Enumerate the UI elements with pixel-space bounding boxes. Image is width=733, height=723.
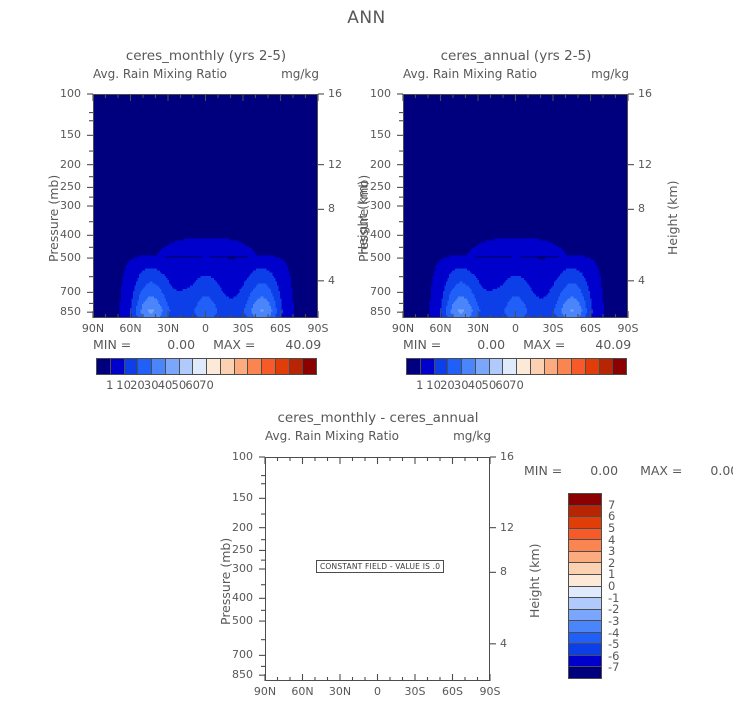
colorbar-cell [234,359,248,374]
colorbar-tick-label: 1 [106,378,113,392]
x-tick-label: 30S [405,685,426,698]
colorbar-cell [475,359,489,374]
colorbar-cell [569,539,601,551]
constant-field-annotation: CONSTANT FIELD - VALUE IS .0 [316,560,444,573]
colorbar-tick-label: 60 [185,378,200,392]
contour-field [404,95,628,318]
colorbar-tick-label: -7 [608,660,619,674]
y-tick-label: 850 [370,305,391,318]
x-tick-label: 60S [580,322,601,335]
colorbar-cell [569,505,601,517]
x-tick-label: 60N [291,685,313,698]
minmax-left: MIN = 0.00 MAX = 40.09 [93,337,318,352]
colorbar-cell [516,359,530,374]
x-tick-label: 90S [308,322,329,335]
x-tick-label: 0 [202,322,209,335]
x-tick-label: 30N [467,322,489,335]
colorbar-strip [406,358,627,375]
min-value: 0.00 [477,337,505,352]
panel-title: ceres_annual (yrs 2-5) [403,48,629,64]
colorbar-cell [571,359,585,374]
min-value: 0.00 [590,463,618,478]
y-tick-label: 700 [60,285,81,298]
colorbar-tick-label: 70 [509,378,524,392]
y-tick-label: 100 [232,450,253,463]
y-tick-label: 850 [232,668,253,681]
panel-ceres-annual: ceres_annual (yrs 2-5) Avg. Rain Mixing … [343,48,643,83]
colorbar-cell [447,359,461,374]
colorbar-cell [557,359,571,374]
colorbar-cell [585,359,599,374]
max-label: MAX = [640,463,682,478]
colorbar-cell [420,359,434,374]
colorbar-cell [502,359,516,374]
colorbar-cell [179,359,193,374]
colorbar-tick-label: 30 [144,378,159,392]
colorbar-cell [569,516,601,528]
y-tick-label: 300 [60,199,81,212]
y-tick-label: 150 [60,128,81,141]
y-tick-label-height: 8 [500,565,507,578]
minmax-right: MIN = 0.00 MAX = 40.09 [403,337,628,352]
colorbar-cell [302,359,316,374]
y-tick-label: 400 [232,591,253,604]
y-tick-label: 200 [370,158,391,171]
colorbar-cell [569,666,601,678]
y-tick-label: 400 [60,228,81,241]
x-tick-label: 0 [512,322,519,335]
panel-difference: ceres_monthly - ceres_annual Avg. Rain M… [228,410,528,445]
colorbar-cell [275,359,289,374]
max-value: 40.09 [595,337,631,352]
y-tick-label-height: 12 [638,158,652,171]
colorbar-tick-label: 1 [416,378,423,392]
y-tick-label: 850 [60,305,81,318]
panel-title: ceres_monthly (yrs 2-5) [93,48,319,64]
colorbar-cell [407,359,420,374]
colorbar-cell [569,597,601,609]
colorbar-cell [599,359,613,374]
x-tick-label: 0 [374,685,381,698]
x-tick-label: 60S [270,322,291,335]
y-tick-label: 100 [370,87,391,100]
colorbar-cell [569,609,601,621]
colorbar-cell [192,359,206,374]
y-tick-label: 400 [370,228,391,241]
x-tick-label: 60S [442,685,463,698]
x-tick-label: 30N [157,322,179,335]
x-tick-label: 30S [543,322,564,335]
max-value: 40.09 [285,337,321,352]
colorbar-cell [569,643,601,655]
panel-title: ceres_monthly - ceres_annual [265,410,491,426]
contour-plot-ceres-annual [403,94,628,318]
colorbar-tick-label: 10 [116,378,131,392]
y-tick-label-height: 4 [328,274,335,287]
y-tick-label: 100 [60,87,81,100]
colorbar-tick-label: 70 [199,378,214,392]
minmax-difference: MIN = 0.00 MAX = 0.00 [524,463,733,478]
colorbar-cell [434,359,448,374]
y-tick-label-height: 16 [328,87,342,100]
colorbar-cell [569,655,601,667]
colorbar-cell [569,632,601,644]
x-tick-label: 90N [392,322,414,335]
y-tick-label: 150 [232,491,253,504]
colorbar-strip [96,358,317,375]
y-tick-label: 300 [370,199,391,212]
min-label: MIN = [524,463,562,478]
y-axis-label-height: Height (km) [665,181,680,255]
colorbar-tick-label: 10 [426,378,441,392]
colorbar-tick-label: 40 [468,378,483,392]
colorbar-cell [124,359,138,374]
y-axis-label-height: Height (km) [527,544,542,618]
y-tick-label: 500 [370,251,391,264]
colorbar-cell [544,359,558,374]
variable-label: Avg. Rain Mixing Ratio [265,429,399,443]
colorbar-tick-label: 60 [495,378,510,392]
colorbar-cell [289,359,303,374]
y-tick-label: 250 [370,180,391,193]
y-tick-label: 200 [60,158,81,171]
min-label: MIN = [93,337,131,352]
y-tick-label-height: 4 [500,637,507,650]
variable-label: Avg. Rain Mixing Ratio [403,67,537,81]
colorbar-cell [261,359,275,374]
x-tick-label: 60N [119,322,141,335]
colorbar-cell [569,574,601,586]
units-label: mg/kg [453,429,491,443]
colorbar-cell [220,359,234,374]
colorbar-tick-label: 20 [130,378,145,392]
colorbar-cell [569,562,601,574]
y-tick-label: 500 [60,251,81,264]
colorbar-cell [137,359,151,374]
x-tick-label: 30N [329,685,351,698]
page-title: ANN [0,8,733,28]
colorbar-cell [206,359,220,374]
colorbar-difference: 76543210-1-2-3-4-5-6-7 [568,493,638,683]
y-tick-label: 200 [232,521,253,534]
colorbar-cell [110,359,124,374]
y-tick-label: 700 [232,648,253,661]
colorbar-cell [569,551,601,563]
colorbar-cell [247,359,261,374]
x-tick-label: 30S [233,322,254,335]
y-tick-label-height: 12 [500,521,514,534]
units-label: mg/kg [281,67,319,81]
panel-ceres-monthly: ceres_monthly (yrs 2-5) Avg. Rain Mixing… [33,48,333,83]
y-tick-label-height: 16 [500,450,514,463]
y-tick-label: 300 [232,562,253,575]
y-tick-label-height: 16 [638,87,652,100]
colorbar-tick-label: 30 [454,378,469,392]
colorbar-cell [461,359,475,374]
colorbar-tick-label: 50 [482,378,497,392]
contour-field [94,95,318,318]
colorbar-tick-label: 50 [172,378,187,392]
colorbar-cell [151,359,165,374]
colorbar-cell [569,494,601,505]
max-label: MAX = [523,337,565,352]
x-tick-label: 60N [429,322,451,335]
colorbar-tick-label: 40 [158,378,173,392]
y-tick-label-height: 4 [638,274,645,287]
colorbar-right: 110203040506070 [406,358,627,392]
colorbar-cell [612,359,626,374]
colorbar-cell [569,620,601,632]
contour-plot-ceres-monthly [93,94,318,318]
colorbar-strip [568,493,602,679]
x-tick-label: 90N [82,322,104,335]
units-label: mg/kg [591,67,629,81]
y-tick-label: 150 [370,128,391,141]
y-tick-label: 500 [232,614,253,627]
x-tick-label: 90S [480,685,501,698]
y-axis-label-pressure: Pressure (mb) [218,538,233,625]
colorbar-cell [97,359,110,374]
max-label: MAX = [213,337,255,352]
colorbar-cell [569,586,601,598]
min-label: MIN = [403,337,441,352]
colorbar-cell [489,359,503,374]
colorbar-cell [530,359,544,374]
y-tick-label: 250 [232,543,253,556]
x-tick-label: 90S [618,322,639,335]
max-value: 0.00 [710,463,733,478]
y-tick-label: 700 [370,285,391,298]
x-tick-label: 90N [254,685,276,698]
min-value: 0.00 [167,337,195,352]
y-tick-label-height: 8 [328,202,335,215]
colorbar-cell [165,359,179,374]
y-axis-label-pressure: Pressure (mb) [46,175,61,262]
y-tick-label-height: 12 [328,158,342,171]
variable-label: Avg. Rain Mixing Ratio [93,67,227,81]
colorbar-tick-label: 20 [440,378,455,392]
colorbar-left: 110203040506070 [96,358,317,392]
y-tick-label-height: 8 [638,202,645,215]
colorbar-cell [569,528,601,540]
y-axis-label-pressure: Pressure (mb) [356,175,371,262]
y-tick-label: 250 [60,180,81,193]
